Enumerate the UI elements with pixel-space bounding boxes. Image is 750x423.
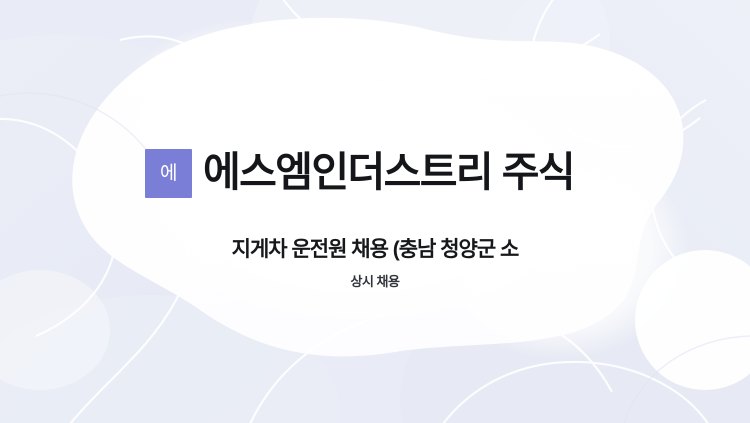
job-posting-title: 지게차 운전원 채용 (충남 청양군 소 xyxy=(0,236,750,263)
card-content: 에 에스엠인더스트리 주식 지게차 운전원 채용 (충남 청양군 소 상시 채용 xyxy=(0,0,750,423)
company-header: 에 에스엠인더스트리 주식 xyxy=(145,145,745,201)
company-name: 에스엠인더스트리 주식 xyxy=(203,150,745,196)
company-logo-badge: 에 xyxy=(145,149,192,198)
job-posting-card: 에 에스엠인더스트리 주식 지게차 운전원 채용 (충남 청양군 소 상시 채용 xyxy=(0,0,750,423)
recruitment-status: 상시 채용 xyxy=(0,274,750,291)
